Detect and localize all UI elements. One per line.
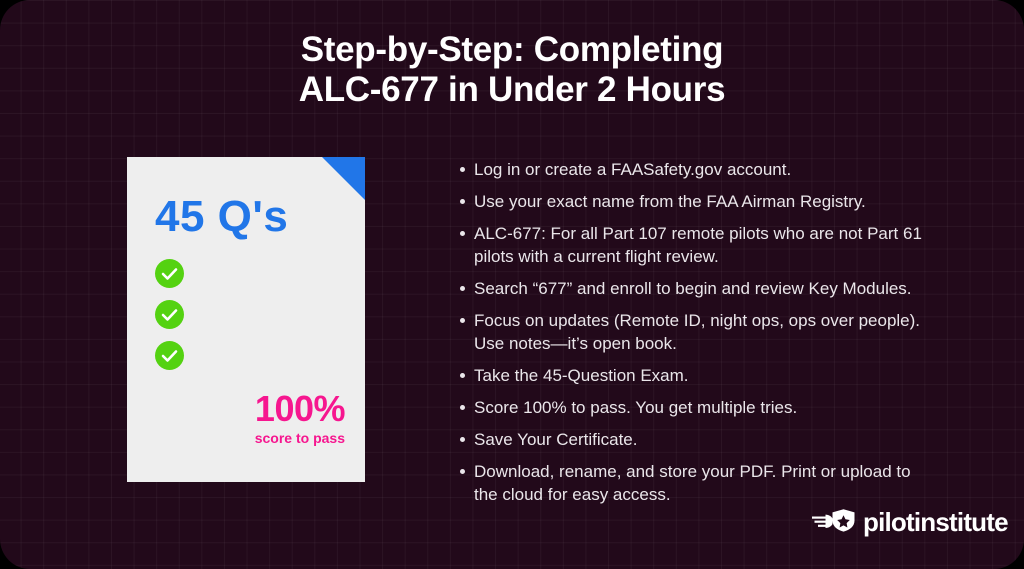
page-fold-corner-icon: [322, 157, 365, 200]
list-item-text: Focus on updates (Remote ID, night ops, …: [474, 311, 920, 353]
bullet-dot-icon: [460, 167, 465, 172]
list-item: Take the 45-Question Exam.: [458, 364, 936, 387]
check-circle-icon: [155, 259, 184, 288]
bullet-dot-icon: [460, 469, 465, 474]
list-item: Use your exact name from the FAA Airman …: [458, 190, 936, 213]
list-item: Focus on updates (Remote ID, night ops, …: [458, 309, 936, 355]
checklist-row: [155, 339, 345, 375]
bullet-dot-icon: [460, 405, 465, 410]
checklist-rows: [155, 257, 345, 380]
title-line-2: ALC-677 in Under 2 Hours: [0, 70, 1024, 110]
check-circle-icon: [155, 300, 184, 329]
score-text: 100% score to pass: [255, 391, 345, 447]
list-item: Save Your Certificate.: [458, 428, 936, 451]
bullet-dot-icon: [460, 437, 465, 442]
list-item: Score 100% to pass. You get multiple tri…: [458, 396, 936, 419]
brand-wordmark: pilotinstitute: [863, 509, 1008, 535]
score-percent-label: 100%: [255, 391, 345, 427]
bullet-dot-icon: [460, 373, 465, 378]
list-item: ALC-677: For all Part 107 remote pilots …: [458, 222, 936, 268]
list-item-text: ALC-677: For all Part 107 remote pilots …: [474, 224, 922, 266]
bullet-dot-icon: [460, 199, 465, 204]
bullet-dot-icon: [460, 286, 465, 291]
list-item: Download, rename, and store your PDF. Pr…: [458, 460, 936, 506]
check-circle-icon: [155, 341, 184, 370]
winged-shield-star-icon: [812, 506, 856, 539]
list-item: Search “677” and enroll to begin and rev…: [458, 277, 936, 300]
question-count-label: 45 Q's: [155, 193, 288, 241]
steps-bullet-list: Log in or create a FAASafety.gov account…: [458, 158, 936, 515]
list-item-text: Score 100% to pass. You get multiple tri…: [474, 398, 797, 417]
poster-canvas: Step-by-Step: Completing ALC-677 in Unde…: [0, 0, 1024, 569]
score-block: 100% score to pass: [155, 391, 345, 453]
brand-logo: pilotinstitute: [812, 505, 1008, 539]
title-line-1: Step-by-Step: Completing: [0, 30, 1024, 70]
list-item-text: Save Your Certificate.: [474, 430, 637, 449]
list-item-text: Take the 45-Question Exam.: [474, 366, 689, 385]
page-title: Step-by-Step: Completing ALC-677 in Unde…: [0, 30, 1024, 110]
list-item-text: Use your exact name from the FAA Airman …: [474, 192, 866, 211]
score-caption-label: score to pass: [255, 429, 345, 447]
checklist-row: [155, 257, 345, 293]
list-item-text: Search “677” and enroll to begin and rev…: [474, 279, 912, 298]
list-item: Log in or create a FAASafety.gov account…: [458, 158, 936, 181]
list-item-text: Log in or create a FAASafety.gov account…: [474, 160, 791, 179]
list-item-text: Download, rename, and store your PDF. Pr…: [474, 462, 911, 504]
checklist-row: [155, 298, 345, 334]
document-card-illustration: 45 Q's: [127, 157, 365, 482]
bullet-dot-icon: [460, 231, 465, 236]
bullet-dot-icon: [460, 318, 465, 323]
